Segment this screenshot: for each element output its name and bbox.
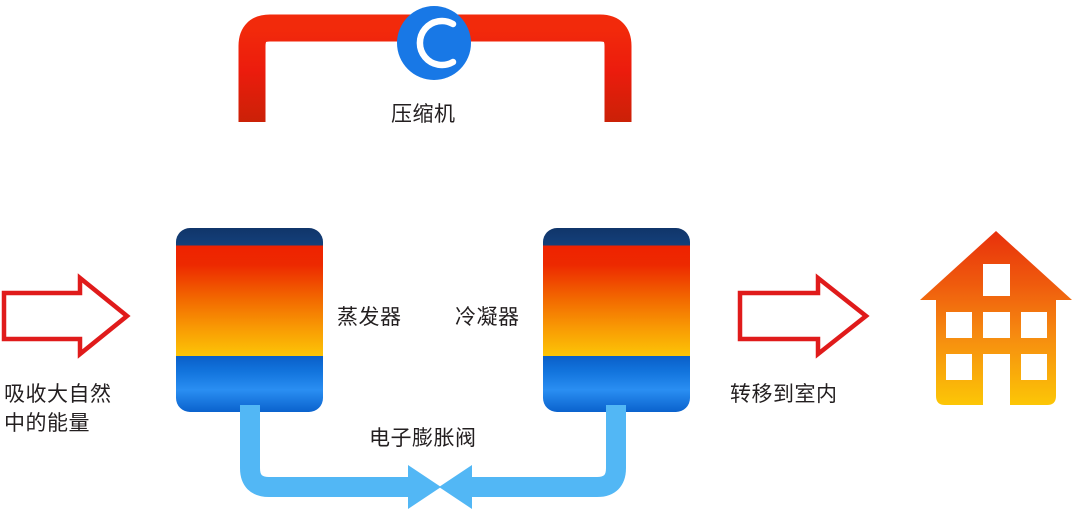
output-label: 转移到室内 <box>730 380 838 409</box>
heat-pump-diagram: 压缩机 蒸发器 冷凝器 电子膨胀阀 吸收大自然中的能量 转移到室内 <box>0 0 1080 510</box>
compressor-node[interactable] <box>397 6 471 80</box>
diagram-canvas <box>0 0 1080 510</box>
compressor-label: 压缩机 <box>391 100 456 129</box>
flow-arrow-right-icon <box>408 465 441 509</box>
output-arrow-icon <box>740 278 866 354</box>
condenser-block[interactable] <box>543 228 690 412</box>
house-window-2 <box>983 312 1010 338</box>
flow-arrow-left-icon <box>439 465 472 509</box>
compressor-circle <box>397 6 471 80</box>
house-window-4 <box>946 354 972 380</box>
condenser-label: 冷凝器 <box>455 303 520 332</box>
intake-label-line1: 吸收大自然 <box>4 383 112 406</box>
intake-label: 吸收大自然中的能量 <box>4 380 112 438</box>
house-window-3 <box>1021 312 1047 338</box>
cold-refrigerant-pipe <box>250 405 616 509</box>
house-window-1 <box>946 312 972 338</box>
house-window-attic <box>983 264 1010 296</box>
intake-label-line2: 中的能量 <box>4 412 90 435</box>
evaporator-block[interactable] <box>176 228 323 412</box>
house-window-5 <box>1021 354 1047 380</box>
expansion-valve-label: 电子膨胀阀 <box>369 424 477 453</box>
evaporator-label: 蒸发器 <box>337 303 402 332</box>
intake-arrow-icon <box>4 278 127 354</box>
house-icon <box>920 231 1072 405</box>
house-door <box>983 354 1010 405</box>
